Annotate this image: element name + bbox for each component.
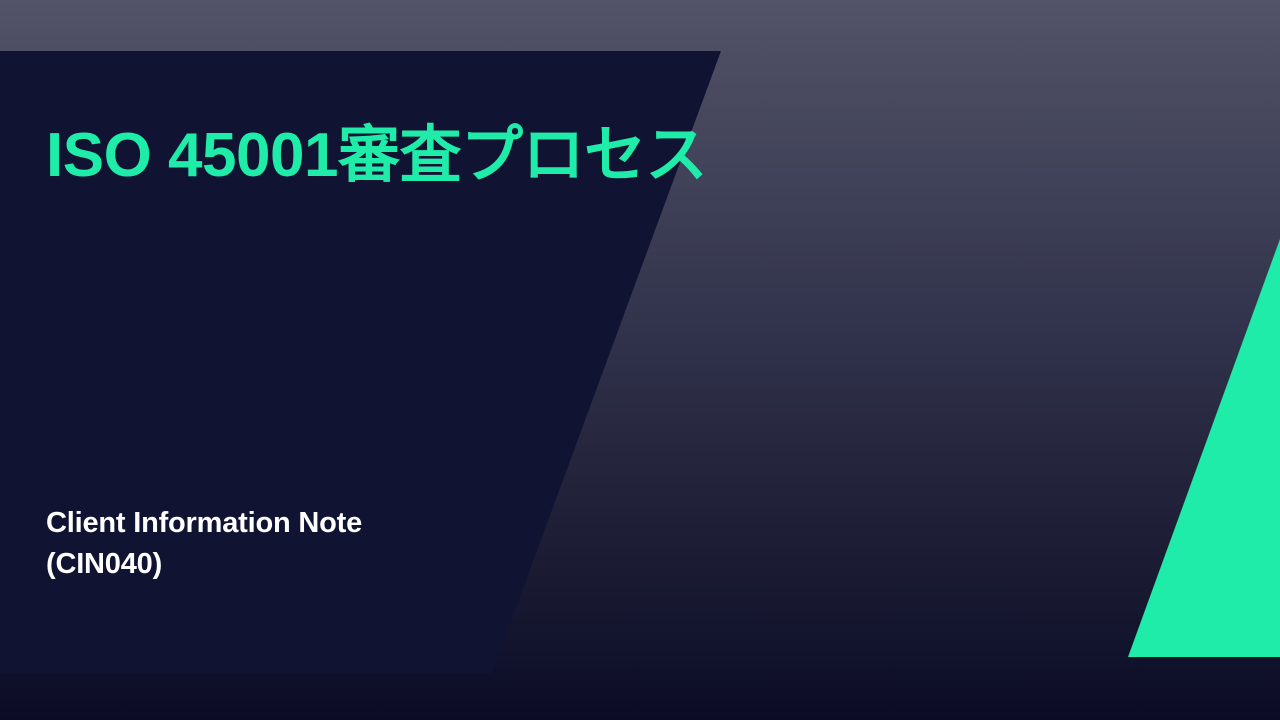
subtitle: Client Information Note (CIN040) <box>46 503 566 585</box>
page-title: ISO 45001審査プロセス <box>46 123 706 190</box>
subtitle-line-1: Client Information Note <box>46 503 566 544</box>
subtitle-line-2: (CIN040) <box>46 544 566 585</box>
title-content-block: ISO 45001審査プロセス Client Information Note … <box>0 0 720 720</box>
title-slide: ISO 45001審査プロセス Client Information Note … <box>0 0 1280 720</box>
green-accent-wedge <box>1128 239 1280 657</box>
